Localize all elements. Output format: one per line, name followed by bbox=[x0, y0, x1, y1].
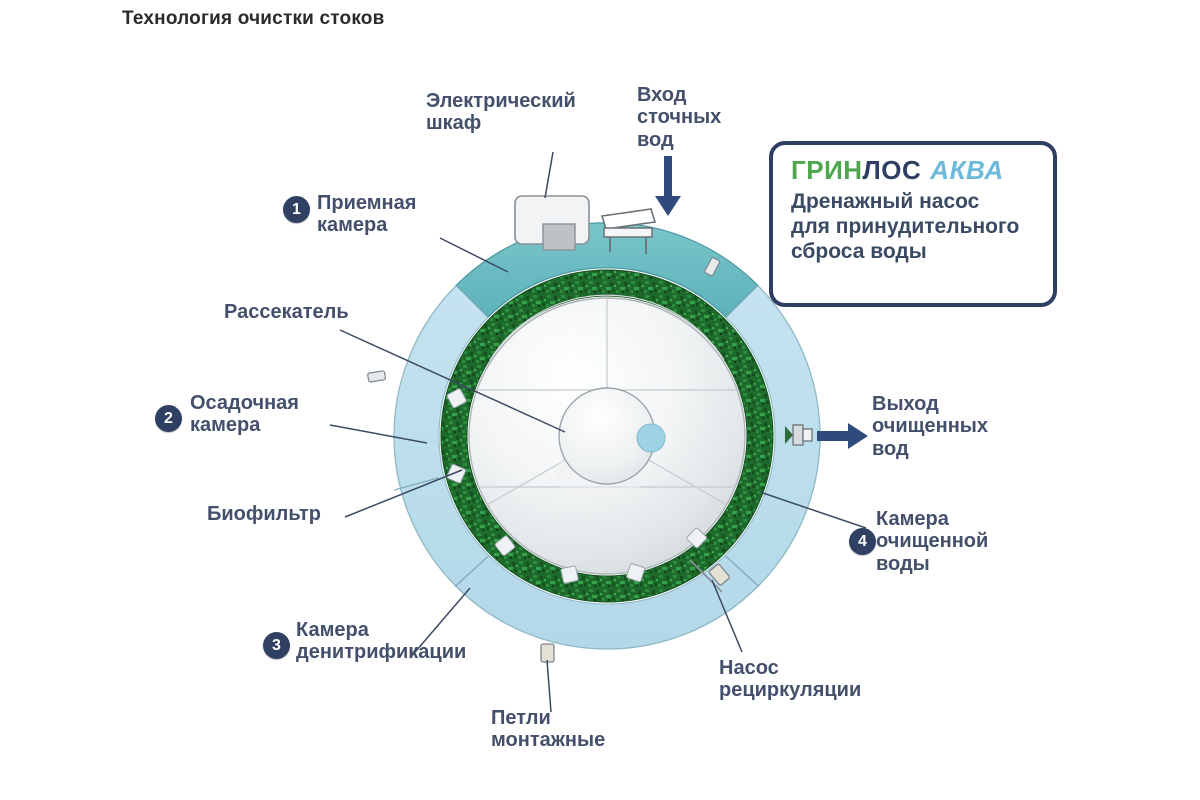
inner-dome bbox=[469, 295, 745, 574]
callout-denitrification: Камера денитрификации bbox=[296, 619, 466, 664]
diagram-page: Технология очистки стоков bbox=[0, 0, 1200, 800]
clean-water-outlet-arrow bbox=[817, 423, 868, 449]
brand-badge: ГРИНЛОСАКВА Дренажный насос для принудит… bbox=[769, 141, 1057, 307]
electrical-cabinet-fixture bbox=[515, 196, 589, 250]
callout-electrical-cabinet: Электрический шкаф bbox=[426, 90, 576, 135]
marker-number-3: 3 bbox=[263, 632, 290, 659]
callout-clean-water-chamber: Камера очищенной воды bbox=[876, 508, 988, 575]
callout-intake-chamber: Приемная камера bbox=[317, 192, 416, 237]
badge-description: Дренажный насос для принудительного сбро… bbox=[791, 189, 1039, 265]
marker-number-1: 1 bbox=[283, 196, 310, 223]
callout-splitter: Рассекатель bbox=[224, 301, 349, 323]
leader-mounting-loops bbox=[547, 660, 551, 712]
callout-biofilter: Биофильтр bbox=[207, 503, 321, 525]
brand-navy-part: ЛОС bbox=[863, 155, 922, 185]
marker-number-2: 2 bbox=[155, 405, 182, 432]
callout-waste-inlet: Вход сточных вод bbox=[637, 84, 721, 151]
brand-name: ГРИНЛОСАКВА bbox=[791, 155, 1039, 186]
treatment-plant-diagram bbox=[0, 0, 1200, 800]
waste-inlet-arrow bbox=[655, 156, 681, 216]
brand-aqua-part: АКВА bbox=[930, 155, 1003, 185]
marker-number-4: 4 bbox=[849, 528, 876, 555]
callout-clean-water-outlet: Выход очищенных вод bbox=[872, 393, 988, 460]
leader-electrical-cabinet bbox=[545, 152, 553, 198]
callout-recirculation-pump: Насос рециркуляции bbox=[719, 657, 861, 702]
callout-mounting-loops: Петли монтажные bbox=[491, 707, 605, 752]
callout-settling-chamber: Осадочная камера bbox=[190, 392, 299, 437]
brand-green-part: ГРИН bbox=[791, 155, 863, 185]
